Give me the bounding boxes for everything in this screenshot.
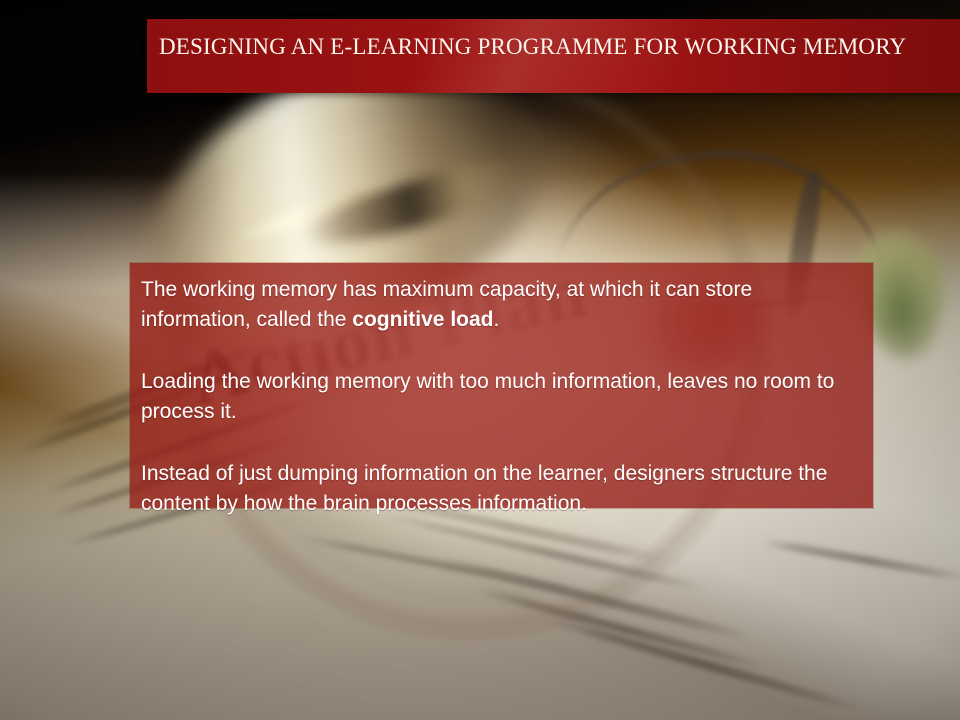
slide-body-content: The working memory has maximum capacity,… — [141, 275, 863, 519]
slide-body-textbox: The working memory has maximum capacity,… — [130, 263, 873, 508]
presentation-slide: Action Plan DESIGNING AN E-LEARNING PROG… — [0, 0, 960, 720]
slide-title: DESIGNING AN E-LEARNING PROGRAMME FOR WO… — [159, 30, 948, 63]
body-paragraph-1: The working memory has maximum capacity,… — [141, 275, 863, 335]
slide-title-banner: DESIGNING AN E-LEARNING PROGRAMME FOR WO… — [147, 19, 960, 93]
body-paragraph-3: Instead of just dumping information on t… — [141, 459, 863, 519]
body-paragraph-2: Loading the working memory with too much… — [141, 367, 863, 427]
